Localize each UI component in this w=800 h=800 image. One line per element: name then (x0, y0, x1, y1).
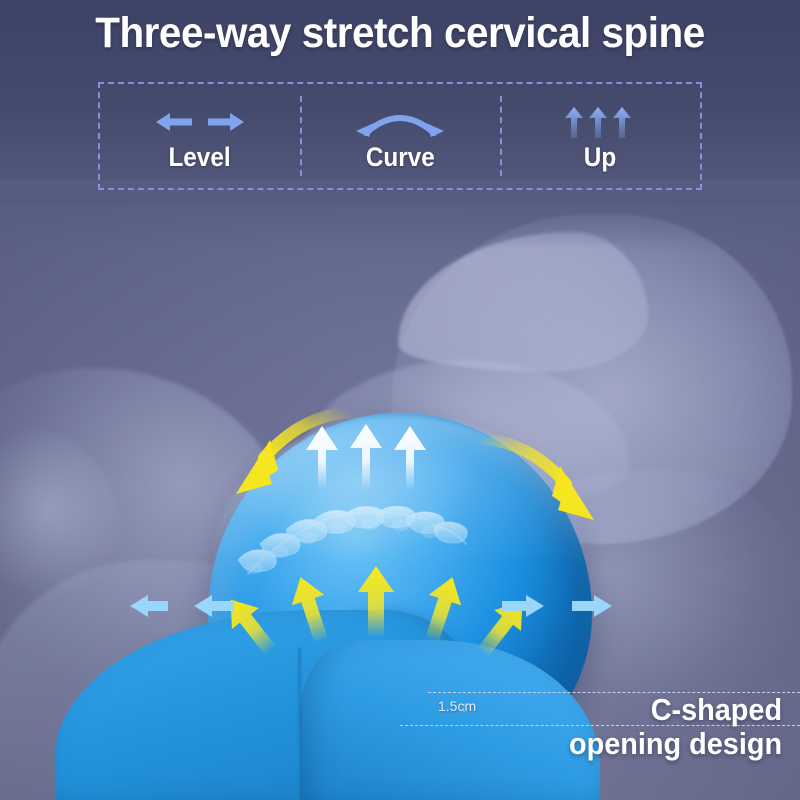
feature-row: Level Curve (98, 82, 702, 190)
three-up-arrows-icon (563, 102, 637, 142)
product-caption: C-shaped opening design (569, 693, 782, 762)
measurement-label: 1.5cm (438, 698, 476, 714)
feature-label-curve: Curve (366, 144, 435, 171)
yellow-radial-arrows-group (248, 556, 508, 676)
curved-double-arrow-icon (352, 102, 448, 142)
left-right-arrows-icon (154, 102, 246, 142)
feature-label-level: Level (169, 144, 231, 171)
blue-right-arrows-group (500, 592, 640, 620)
curved-arrow-right-icon (478, 434, 608, 534)
feature-label-up: Up (584, 144, 616, 171)
header-band-fade (0, 180, 800, 250)
blue-left-arrows-group (130, 592, 240, 620)
caption-line-1: C-shaped (569, 693, 782, 728)
feature-item-level[interactable]: Level (100, 84, 300, 188)
page-title: Three-way stretch cervical spine (24, 9, 776, 58)
curved-arrow-left-icon (222, 406, 352, 506)
feature-item-up[interactable]: Up (500, 84, 700, 188)
caption-line-2: opening design (569, 727, 782, 762)
product-infographic: 1.5cm Three-way stretch cervical spine L… (0, 0, 800, 800)
feature-item-curve[interactable]: Curve (300, 84, 500, 188)
